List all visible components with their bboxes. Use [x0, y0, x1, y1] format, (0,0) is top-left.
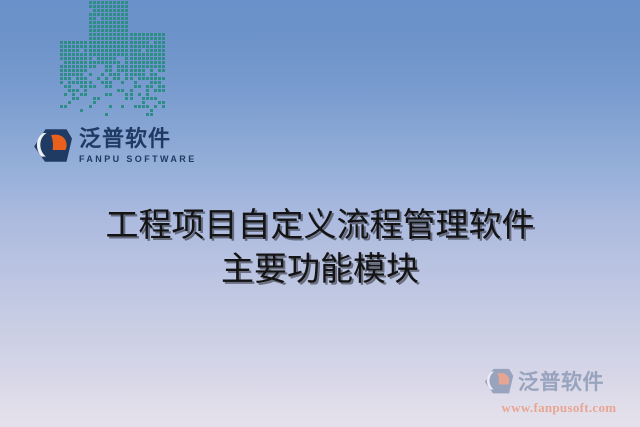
cityscape-pixel — [64, 65, 67, 68]
cityscape-pixel — [64, 49, 67, 52]
cityscape-pixel — [150, 73, 153, 76]
cityscape-pixel — [109, 37, 112, 40]
cityscape-pixel — [97, 17, 100, 20]
cityscape-pixel — [80, 45, 83, 48]
cityscape-pixel — [125, 53, 128, 56]
cityscape-pixel — [89, 41, 92, 44]
cityscape-pixel — [84, 89, 87, 92]
cityscape-pixel — [121, 101, 124, 104]
cityscape-pixel — [97, 13, 100, 16]
cityscape-pixel — [105, 45, 108, 48]
cityscape-pixel — [113, 29, 116, 32]
cityscape-pixel — [93, 37, 96, 40]
cityscape-pixel — [142, 89, 145, 92]
cityscape-pixel — [158, 37, 161, 40]
cityscape-pixel — [117, 113, 120, 116]
cityscape-pixel — [101, 37, 104, 40]
cityscape-pixel — [101, 29, 104, 32]
cityscape-pixel — [60, 77, 63, 80]
cityscape-pixel — [64, 61, 67, 64]
cityscape-pixel — [150, 105, 153, 108]
cityscape-pixel — [60, 81, 63, 84]
cityscape-pixel — [109, 29, 112, 32]
cityscape-pixel — [109, 1, 112, 4]
watermark-logo-row: 泛普软件 — [484, 363, 634, 399]
cityscape-pixel — [162, 93, 165, 96]
cityscape-pixel — [109, 101, 112, 104]
cityscape-pixel — [105, 101, 108, 104]
cityscape-pixel — [113, 53, 116, 56]
watermark-chinese-name: 泛普软件 — [518, 366, 604, 396]
cityscape-pixel — [113, 101, 116, 104]
cityscape-pixel — [84, 101, 87, 104]
cityscape-pixel — [142, 33, 145, 36]
cityscape-pixel — [72, 77, 75, 80]
cityscape-pixel — [105, 53, 108, 56]
cityscape-pixel — [121, 85, 124, 88]
cityscape-pixel — [117, 33, 120, 36]
cityscape-pixel — [89, 5, 92, 8]
cityscape-pixel — [97, 101, 100, 104]
cityscape-pixel — [134, 109, 137, 112]
cityscape-pixel — [89, 109, 92, 112]
cityscape-pixel — [97, 29, 100, 32]
cityscape-pixel — [105, 97, 108, 100]
cityscape-pixel — [162, 45, 165, 48]
cityscape-pixel — [121, 17, 124, 20]
cityscape-pixel — [134, 33, 137, 36]
cityscape-pixel — [125, 85, 128, 88]
cityscape-pixel — [97, 77, 100, 80]
cityscape-pixel — [68, 45, 71, 48]
cityscape-pixel — [101, 53, 104, 56]
cityscape-pixel — [162, 85, 165, 88]
cityscape-pixel — [72, 109, 75, 112]
cityscape-pixel — [93, 33, 96, 36]
cityscape-pixel — [101, 109, 104, 112]
cityscape-pixel — [121, 45, 124, 48]
cityscape-pixel — [146, 73, 149, 76]
cityscape-pixel — [109, 77, 112, 80]
cityscape-pixel — [80, 41, 83, 44]
cityscape-pixel — [162, 73, 165, 76]
cityscape-pixel — [134, 53, 137, 56]
cityscape-pixel — [109, 9, 112, 12]
cityscape-pixel — [130, 41, 133, 44]
cityscape-pixel — [121, 13, 124, 16]
cityscape-pixel — [125, 93, 128, 96]
cityscape-pixel — [121, 97, 124, 100]
cityscape-pixel — [134, 77, 137, 80]
cityscape-pixel — [89, 105, 92, 108]
cityscape-pixel — [142, 49, 145, 52]
cityscape-pixel — [80, 73, 83, 76]
cityscape-pixel — [105, 65, 108, 68]
cityscape-pixel — [121, 5, 124, 8]
title-line-1: 工程项目自定义流程管理软件 — [0, 203, 640, 247]
cityscape-pixel — [150, 85, 153, 88]
cityscape-pixel — [130, 109, 133, 112]
cityscape-pixel — [93, 17, 96, 20]
cityscape-pixel — [97, 73, 100, 76]
cityscape-pixel — [134, 105, 137, 108]
cityscape-pixel — [64, 69, 67, 72]
cityscape-pixel — [146, 45, 149, 48]
cityscape-pixel — [80, 97, 83, 100]
cityscape-pixel — [138, 101, 141, 104]
cityscape-pixel — [97, 93, 100, 96]
cityscape-pixel — [93, 41, 96, 44]
cityscape-pixel — [146, 105, 149, 108]
cityscape-pixel — [101, 93, 104, 96]
cityscape-pixel — [64, 85, 67, 88]
cityscape-pixel — [138, 37, 141, 40]
cityscape-pixel — [80, 113, 83, 116]
cityscape-pixel — [101, 57, 104, 60]
cityscape-pixel — [101, 13, 104, 16]
cityscape-pixel — [150, 61, 153, 64]
cityscape-pixel — [64, 113, 67, 116]
cityscape-pixel — [101, 97, 104, 100]
cityscape-pixel — [89, 65, 92, 68]
cityscape-pixel — [105, 33, 108, 36]
cityscape-pixel — [93, 65, 96, 68]
cityscape-pixel — [76, 85, 79, 88]
cityscape-pixel — [105, 41, 108, 44]
cityscape-pixel — [68, 85, 71, 88]
cityscape-pixel — [84, 57, 87, 60]
cityscape-pixel — [146, 109, 149, 112]
cityscape-pixel — [101, 5, 104, 8]
cityscape-pixel — [64, 97, 67, 100]
cityscape-pixel — [109, 13, 112, 16]
cityscape-pixel — [117, 25, 120, 28]
cityscape-pixel — [125, 25, 128, 28]
cityscape-pixel — [125, 17, 128, 20]
cityscape-pixel — [162, 61, 165, 64]
cityscape-pixel — [130, 93, 133, 96]
cityscape-pixel — [76, 89, 79, 92]
cityscape-pixel — [105, 21, 108, 24]
cityscape-pixel — [134, 73, 137, 76]
cityscape-pixel — [113, 25, 116, 28]
cityscape-pixel — [146, 77, 149, 80]
cityscape-pixel — [84, 97, 87, 100]
cityscape-pixel — [154, 73, 157, 76]
cityscape-pixel — [72, 101, 75, 104]
cityscape-pixel — [68, 41, 71, 44]
cityscape-pixel — [117, 101, 120, 104]
cityscape-pixel — [117, 93, 120, 96]
cityscape-pixel — [89, 37, 92, 40]
cityscape-pixel — [72, 65, 75, 68]
cityscape-pixel — [97, 9, 100, 12]
cityscape-pixel — [142, 57, 145, 60]
fanpu-watermark-icon — [484, 368, 514, 395]
cityscape-pixel — [138, 89, 141, 92]
cityscape-pixel — [117, 41, 120, 44]
cityscape-pixel — [93, 57, 96, 60]
cityscape-pixel — [101, 81, 104, 84]
cityscape-pixel — [125, 33, 128, 36]
cityscape-pixel — [76, 101, 79, 104]
cityscape-pixel — [113, 9, 116, 12]
cityscape-pixel — [105, 17, 108, 20]
cityscape-pixel — [72, 57, 75, 60]
cityscape-pixel — [80, 93, 83, 96]
cityscape-pixel — [134, 57, 137, 60]
cityscape-pixel — [101, 49, 104, 52]
cityscape-pixel — [76, 65, 79, 68]
cityscape-pixel — [105, 69, 108, 72]
cityscape-pixel — [117, 17, 120, 20]
cityscape-pixel — [130, 85, 133, 88]
cityscape-pixel — [64, 101, 67, 104]
cityscape-pixel — [64, 73, 67, 76]
cityscape-pixel — [162, 57, 165, 60]
cityscape-pixel — [101, 9, 104, 12]
cityscape-pixel — [64, 45, 67, 48]
cityscape-pixel — [125, 21, 128, 24]
cityscape-pixel — [121, 49, 124, 52]
cityscape-pixel — [162, 105, 165, 108]
cityscape-pixel — [150, 33, 153, 36]
cityscape-pixel — [93, 21, 96, 24]
cityscape-pixel — [60, 97, 63, 100]
cityscape-pixel — [80, 105, 83, 108]
cityscape-pixel — [109, 105, 112, 108]
cityscape-pixel — [158, 73, 161, 76]
cityscape-pixel — [80, 53, 83, 56]
cityscape-pixel — [109, 85, 112, 88]
cityscape-pixel — [97, 33, 100, 36]
cityscape-pixel — [154, 37, 157, 40]
cityscape-pixel — [89, 97, 92, 100]
cityscape-pixel — [93, 101, 96, 104]
cityscape-pixel — [146, 61, 149, 64]
cityscape-pixel — [72, 105, 75, 108]
cityscape-pixel — [60, 105, 63, 108]
cityscape-pixel — [158, 109, 161, 112]
cityscape-pixel — [134, 81, 137, 84]
cityscape-pixel — [125, 81, 128, 84]
cityscape-pixel — [138, 57, 141, 60]
cityscape-pixel — [76, 53, 79, 56]
cityscape-pixel — [125, 73, 128, 76]
cityscape-pixel — [105, 9, 108, 12]
cityscape-pixel — [76, 113, 79, 116]
cityscape-pixel — [117, 105, 120, 108]
cityscape-pixel — [76, 81, 79, 84]
cityscape-pixel — [117, 9, 120, 12]
cityscape-pixel — [138, 105, 141, 108]
cityscape-pixel — [150, 113, 153, 116]
cityscape-pixel — [117, 57, 120, 60]
cityscape-pixel — [72, 41, 75, 44]
cityscape-pixel — [93, 13, 96, 16]
cityscape-pixel — [97, 97, 100, 100]
cityscape-pixel — [109, 5, 112, 8]
cityscape-pixel — [134, 113, 137, 116]
cityscape-pixel — [162, 113, 165, 116]
cityscape-pixel — [138, 45, 141, 48]
cityscape-pixel — [76, 41, 79, 44]
cityscape-pixel — [97, 57, 100, 60]
cityscape-pixel — [162, 65, 165, 68]
cityscape-pixel — [84, 69, 87, 72]
cityscape-pixel — [121, 9, 124, 12]
cityscape-pixel — [109, 25, 112, 28]
cityscape-pixel — [154, 53, 157, 56]
cityscape-pixel — [154, 113, 157, 116]
cityscape-pixel — [125, 89, 128, 92]
cityscape-pixel — [105, 37, 108, 40]
cityscape-pixel — [60, 89, 63, 92]
cityscape-pixel — [138, 69, 141, 72]
cityscape-pixel — [117, 29, 120, 32]
cityscape-pixel — [154, 101, 157, 104]
cityscape-pixel — [109, 17, 112, 20]
cityscape-pixel — [68, 101, 71, 104]
cityscape-pixel — [80, 49, 83, 52]
cityscape-pixel — [109, 81, 112, 84]
cityscape-pixel — [121, 81, 124, 84]
cityscape-pixel — [97, 1, 100, 4]
cityscape-pixel — [101, 17, 104, 20]
cityscape-pixel — [117, 5, 120, 8]
cityscape-pixel — [89, 53, 92, 56]
cityscape-pixel — [60, 53, 63, 56]
cityscape-pixel — [154, 33, 157, 36]
cityscape-pixel — [64, 105, 67, 108]
cityscape-pixel — [138, 85, 141, 88]
cityscape-pixel — [84, 109, 87, 112]
cityscape-pixel — [97, 65, 100, 68]
cityscape-pixel — [68, 57, 71, 60]
cityscape-pixel — [121, 1, 124, 4]
cityscape-pixel — [138, 53, 141, 56]
cityscape-pixel — [158, 65, 161, 68]
cityscape-pixel — [93, 105, 96, 108]
cityscape-pixel — [113, 97, 116, 100]
cityscape-pixel — [72, 81, 75, 84]
cityscape-pixel — [142, 101, 145, 104]
cityscape-pixel — [154, 105, 157, 108]
cityscape-pixel — [105, 29, 108, 32]
cityscape-pixel — [76, 73, 79, 76]
cityscape-pixel — [134, 93, 137, 96]
cityscape-pixel — [105, 73, 108, 76]
cityscape-pixel — [76, 69, 79, 72]
cityscape-pixel — [113, 1, 116, 4]
cityscape-pixel — [154, 81, 157, 84]
cityscape-pixel — [150, 89, 153, 92]
cityscape-pixel — [76, 109, 79, 112]
cityscape-pixel — [138, 73, 141, 76]
cityscape-pixel — [134, 97, 137, 100]
cityscape-pixel — [130, 45, 133, 48]
cityscape-pixel — [162, 97, 165, 100]
cityscape-pixel — [142, 77, 145, 80]
cityscape-pixel — [113, 65, 116, 68]
cityscape-pixel — [142, 105, 145, 108]
cityscape-pixel — [125, 109, 128, 112]
cityscape-pixel — [162, 49, 165, 52]
cityscape-pixel — [105, 57, 108, 60]
cityscape-pixel — [101, 113, 104, 116]
cityscape-pixel — [162, 41, 165, 44]
cityscape-pixel — [113, 17, 116, 20]
cityscape-pixel — [146, 113, 149, 116]
cityscape-pixel — [121, 57, 124, 60]
cityscape-pixel — [154, 93, 157, 96]
cityscape-pixel — [134, 41, 137, 44]
cityscape-pixel — [113, 69, 116, 72]
cityscape-pixel — [121, 105, 124, 108]
cityscape-pixel — [150, 97, 153, 100]
cityscape-pixel — [121, 41, 124, 44]
cityscape-pixel — [93, 97, 96, 100]
cityscape-pixel — [97, 109, 100, 112]
cityscape-pixel — [80, 89, 83, 92]
cityscape-pixel — [125, 5, 128, 8]
cityscape-pixel — [72, 97, 75, 100]
cityscape-pixel — [138, 97, 141, 100]
cityscape-pixel — [93, 89, 96, 92]
cityscape-pixel — [68, 113, 71, 116]
cityscape-pixel — [89, 73, 92, 76]
cityscape-pixel — [105, 93, 108, 96]
watermark: 泛普软件 www.fanpusoft.com — [484, 363, 634, 421]
cityscape-pixel — [80, 109, 83, 112]
cityscape-pixel — [97, 81, 100, 84]
logo-chinese-name: 泛普软件 — [79, 128, 197, 151]
cityscape-pixel — [84, 53, 87, 56]
cityscape-pixel — [89, 13, 92, 16]
cityscape-pixel — [76, 57, 79, 60]
cityscape-pixel — [72, 113, 75, 116]
cityscape-pixel — [101, 41, 104, 44]
cityscape-pixel — [130, 33, 133, 36]
cityscape-pixel — [68, 109, 71, 112]
cityscape-pixel — [101, 33, 104, 36]
cityscape-pixel — [89, 85, 92, 88]
cityscape-pixel — [146, 81, 149, 84]
cityscape-pixel — [89, 45, 92, 48]
cityscape-pixel — [130, 105, 133, 108]
cityscape-pixel — [101, 85, 104, 88]
cityscape-pixel — [84, 41, 87, 44]
cityscape-pixel — [125, 61, 128, 64]
cityscape-pixel — [72, 53, 75, 56]
cityscape-pixel — [109, 45, 112, 48]
cityscape-pixel — [105, 113, 108, 116]
cityscape-pixel — [113, 77, 116, 80]
cityscape-pixel — [93, 29, 96, 32]
cityscape-pixel — [60, 93, 63, 96]
cityscape-pixel — [89, 77, 92, 80]
cityscape-pixel — [121, 53, 124, 56]
cityscape-pixel — [72, 49, 75, 52]
cityscape-pixel — [80, 81, 83, 84]
cityscape-pixel — [109, 109, 112, 112]
cityscape-pixel — [109, 53, 112, 56]
cityscape-pixel — [97, 61, 100, 64]
cityscape-pixel — [158, 113, 161, 116]
cityscape-pixel — [97, 45, 100, 48]
cityscape-pixel — [93, 61, 96, 64]
cityscape-pixel — [142, 61, 145, 64]
